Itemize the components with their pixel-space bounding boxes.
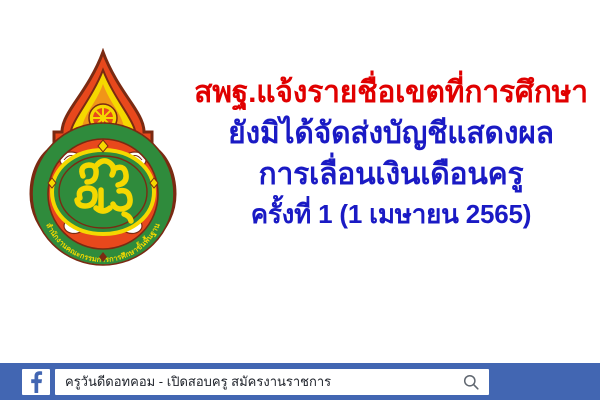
headline-line-3: การเลื่อนเงินเดือนครู	[186, 154, 596, 195]
facebook-f-icon[interactable]	[22, 369, 50, 395]
headline-line-2: ยังมิได้จัดส่งบัญชีแสดงผล	[186, 113, 596, 154]
headline-line-4: ครั้งที่ 1 (1 เมษายน 2565)	[186, 195, 596, 233]
emblem-medallion	[52, 150, 154, 234]
obec-emblem: สำนักงานคณะกรรมการการศึกษาขั้นพื้นฐาน	[28, 48, 178, 266]
search-input[interactable]: ครูวันดีดอทคอม - เปิดสอบครู สมัครงานราชก…	[55, 369, 453, 395]
search-icon[interactable]	[453, 374, 489, 390]
headline-block: สพฐ.แจ้งรายชื่อเขตที่การศึกษา ยังมิได้จั…	[186, 72, 596, 233]
facebook-search-box[interactable]: ครูวันดีดอทคอม - เปิดสอบครู สมัครงานราชก…	[55, 369, 489, 395]
announcement-banner: สำนักงานคณะกรรมการการศึกษาขั้นพื้นฐาน	[0, 0, 600, 400]
facebook-footer-bar: ครูวันดีดอทคอม - เปิดสอบครู สมัครงานราชก…	[0, 363, 600, 400]
headline-line-1: สพฐ.แจ้งรายชื่อเขตที่การศึกษา	[186, 72, 596, 113]
